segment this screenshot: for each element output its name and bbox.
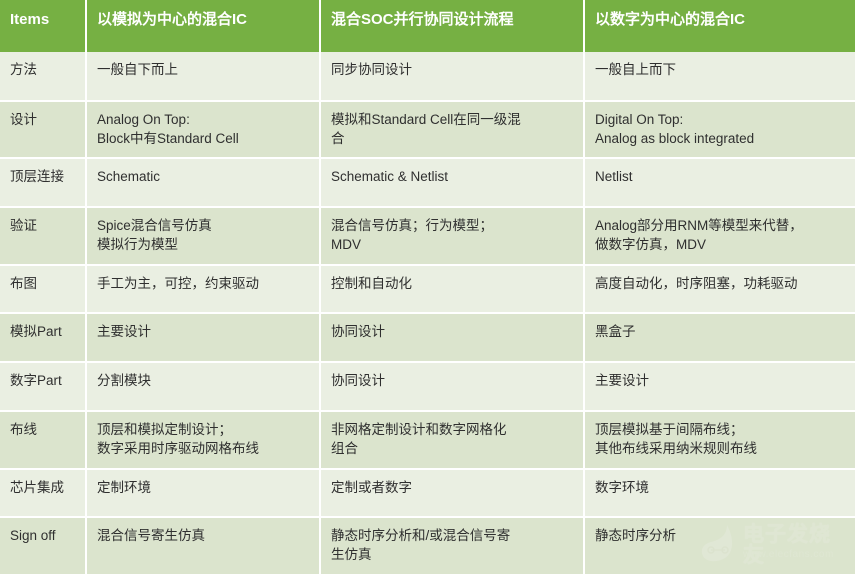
cell-mixed-soc: 协同设计: [320, 362, 584, 411]
cell-line: 组合: [331, 439, 573, 458]
cell-analog-centric: 混合信号寄生仿真: [86, 517, 320, 575]
cell-digital-centric: 黑盒子: [584, 313, 855, 362]
cell-mixed-soc: 同步协同设计: [320, 52, 584, 101]
table-body: 方法 一般自下而上 同步协同设计 一般自上而下 设计 Analog On Top…: [0, 52, 855, 575]
table-row: 布图 手工为主，可控，约束驱动 控制和自动化 高度自动化，时序阻塞，功耗驱动: [0, 265, 855, 314]
cell-mixed-soc: 协同设计: [320, 313, 584, 362]
mixed-signal-flow-comparison-table: Items 以模拟为中心的混合IC 混合SOC并行协同设计流程 以数字为中心的混…: [0, 0, 855, 576]
cell-digital-centric: Netlist: [584, 158, 855, 207]
cell-line: 合: [331, 129, 573, 148]
cell-line: 混合信号仿真；行为模型；: [331, 216, 573, 235]
column-header-mixed-soc: 混合SOC并行协同设计流程: [320, 0, 584, 52]
cell-line: 非网格定制设计和数字网格化: [331, 420, 573, 439]
table-row: 模拟Part 主要设计 协同设计 黑盒子: [0, 313, 855, 362]
cell-digital-centric: 主要设计: [584, 362, 855, 411]
cell-mixed-soc: 定制或者数字: [320, 469, 584, 518]
column-header-analog-centric: 以模拟为中心的混合IC: [86, 0, 320, 52]
cell-line: 模拟和Standard Cell在同一级混: [331, 110, 573, 129]
cell-digital-centric: Digital On Top: Analog as block integrat…: [584, 101, 855, 159]
cell-analog-centric: Analog On Top: Block中有Standard Cell: [86, 101, 320, 159]
row-item-label: 顶层连接: [0, 158, 86, 207]
table-row: 芯片集成 定制环境 定制或者数字 数字环境: [0, 469, 855, 518]
cell-line: Spice混合信号仿真: [97, 216, 309, 235]
row-item-label: 方法: [0, 52, 86, 101]
cell-line: 顶层和模拟定制设计；: [97, 420, 309, 439]
table-container: Items 以模拟为中心的混合IC 混合SOC并行协同设计流程 以数字为中心的混…: [0, 0, 855, 576]
cell-analog-centric: Spice混合信号仿真 模拟行为模型: [86, 207, 320, 265]
table-row: 设计 Analog On Top: Block中有Standard Cell 模…: [0, 101, 855, 159]
cell-line: MDV: [331, 235, 573, 254]
cell-digital-centric: 静态时序分析: [584, 517, 855, 575]
cell-mixed-soc: 非网格定制设计和数字网格化 组合: [320, 411, 584, 469]
cell-line: 数字采用时序驱动网格布线: [97, 439, 309, 458]
cell-line: 生仿真: [331, 545, 573, 564]
cell-analog-centric: 主要设计: [86, 313, 320, 362]
cell-digital-centric: 顶层模拟基于间隔布线； 其他布线采用纳米规则布线: [584, 411, 855, 469]
cell-analog-centric: 手工为主，可控，约束驱动: [86, 265, 320, 314]
cell-mixed-soc: 控制和自动化: [320, 265, 584, 314]
table-header: Items 以模拟为中心的混合IC 混合SOC并行协同设计流程 以数字为中心的混…: [0, 0, 855, 52]
header-row: Items 以模拟为中心的混合IC 混合SOC并行协同设计流程 以数字为中心的混…: [0, 0, 855, 52]
row-item-label: 布图: [0, 265, 86, 314]
row-item-label: 模拟Part: [0, 313, 86, 362]
cell-line: Digital On Top:: [595, 110, 845, 129]
cell-line: Analog On Top:: [97, 110, 309, 129]
table-row: 布线 顶层和模拟定制设计； 数字采用时序驱动网格布线 非网格定制设计和数字网格化…: [0, 411, 855, 469]
cell-line: Analog as block integrated: [595, 129, 845, 148]
cell-digital-centric: Analog部分用RNM等模型来代替， 做数字仿真，MDV: [584, 207, 855, 265]
cell-digital-centric: 数字环境: [584, 469, 855, 518]
table-row: 数字Part 分割模块 协同设计 主要设计: [0, 362, 855, 411]
cell-mixed-soc: 模拟和Standard Cell在同一级混 合: [320, 101, 584, 159]
cell-line: 做数字仿真，MDV: [595, 235, 845, 254]
table-row: 验证 Spice混合信号仿真 模拟行为模型 混合信号仿真；行为模型； MDV A…: [0, 207, 855, 265]
cell-mixed-soc: 混合信号仿真；行为模型； MDV: [320, 207, 584, 265]
row-item-label: 设计: [0, 101, 86, 159]
cell-analog-centric: 分割模块: [86, 362, 320, 411]
cell-mixed-soc: Schematic & Netlist: [320, 158, 584, 207]
cell-line: Analog部分用RNM等模型来代替，: [595, 216, 845, 235]
table-row: Sign off 混合信号寄生仿真 静态时序分析和/或混合信号寄 生仿真 静态时…: [0, 517, 855, 575]
row-item-label: 布线: [0, 411, 86, 469]
row-item-label: 芯片集成: [0, 469, 86, 518]
cell-analog-centric: 定制环境: [86, 469, 320, 518]
cell-line: 静态时序分析和/或混合信号寄: [331, 526, 573, 545]
table-row: 顶层连接 Schematic Schematic & Netlist Netli…: [0, 158, 855, 207]
cell-digital-centric: 高度自动化，时序阻塞，功耗驱动: [584, 265, 855, 314]
column-header-items: Items: [0, 0, 86, 52]
cell-line: 其他布线采用纳米规则布线: [595, 439, 845, 458]
cell-analog-centric: 顶层和模拟定制设计； 数字采用时序驱动网格布线: [86, 411, 320, 469]
cell-line: 顶层模拟基于间隔布线；: [595, 420, 845, 439]
row-item-label: 数字Part: [0, 362, 86, 411]
cell-line: 模拟行为模型: [97, 235, 309, 254]
cell-analog-centric: 一般自下而上: [86, 52, 320, 101]
cell-analog-centric: Schematic: [86, 158, 320, 207]
cell-line: Block中有Standard Cell: [97, 129, 309, 148]
cell-mixed-soc: 静态时序分析和/或混合信号寄 生仿真: [320, 517, 584, 575]
column-header-digital-centric: 以数字为中心的混合IC: [584, 0, 855, 52]
cell-digital-centric: 一般自上而下: [584, 52, 855, 101]
table-row: 方法 一般自下而上 同步协同设计 一般自上而下: [0, 52, 855, 101]
row-item-label: Sign off: [0, 517, 86, 575]
row-item-label: 验证: [0, 207, 86, 265]
